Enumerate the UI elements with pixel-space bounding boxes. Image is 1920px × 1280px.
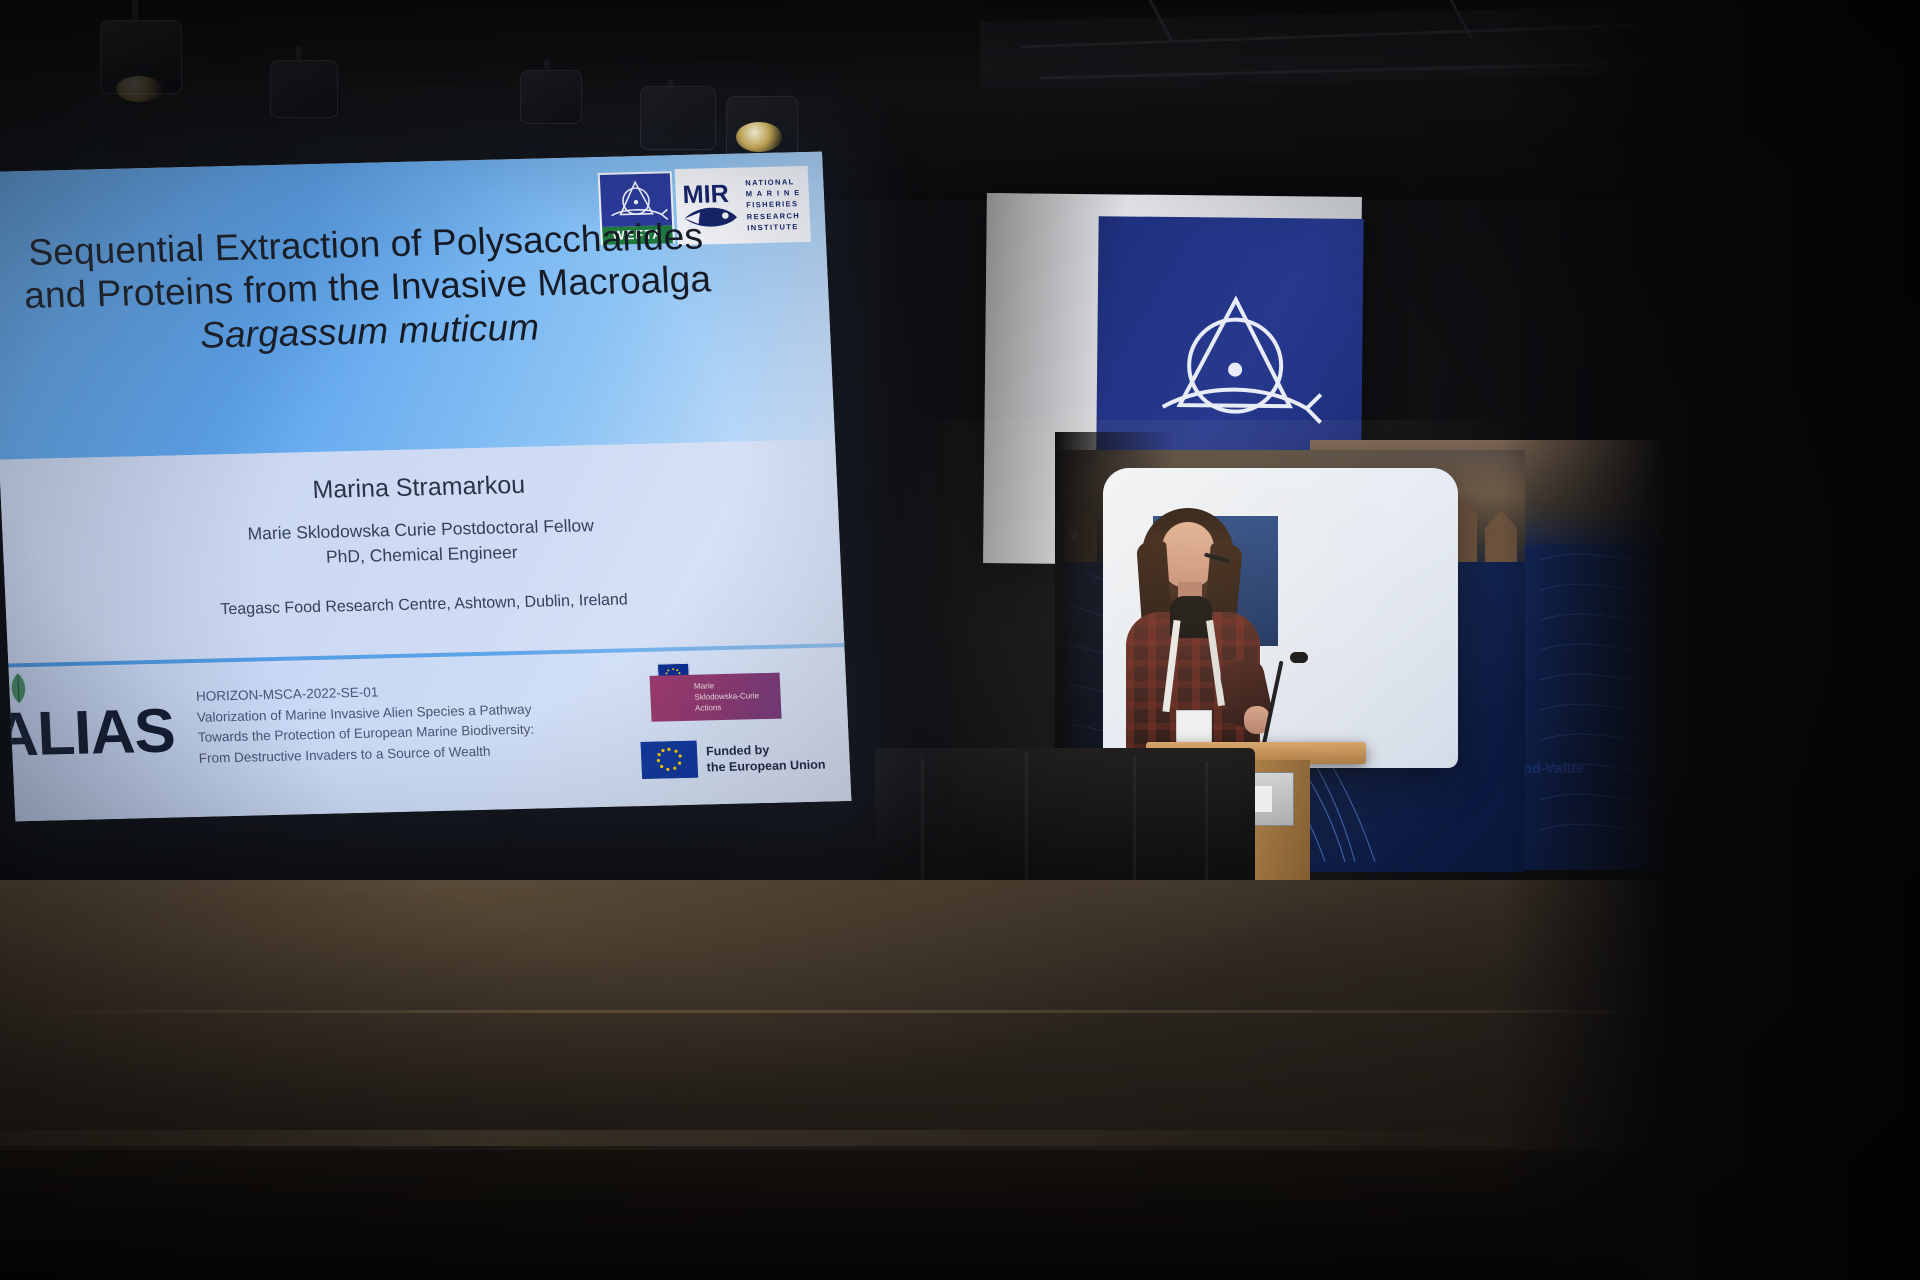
svg-text:MIR: MIR	[682, 180, 729, 209]
eu-flag-icon	[641, 741, 699, 779]
msca-line-3: Actions	[695, 701, 775, 714]
microphone-head-icon	[1290, 652, 1308, 663]
eu-funding-logo: Funded by the European Union	[641, 738, 826, 779]
floor-light-sheen	[0, 880, 1300, 1120]
eu-funding-label: Funded by the European Union	[706, 740, 826, 775]
project-footer-text: HORIZON-MSCA-2022-SE-01 Valorization of …	[196, 677, 600, 769]
msca-logo: Marie Sklodowska-Curie Actions	[650, 673, 782, 722]
leaf-icon	[7, 673, 30, 704]
mir-wordmark-text: NATIONALM A R I N EFISHERIESRESEARCHINST…	[745, 176, 802, 234]
eu-flag-stars-icon	[641, 741, 699, 779]
eu-funding-line-2: the European Union	[706, 756, 825, 775]
alias-project-logo: ALIAS	[0, 695, 176, 770]
alias-wordmark: ALIAS	[0, 696, 176, 769]
projection-screen: WEFTA MIR NATIONALM A R I N EFISHERIESRE…	[0, 152, 851, 822]
conference-stage-photo: NATIONALMARINEFISHERIESRESEARCHINSTITUTE…	[0, 0, 1920, 1280]
speaker-person	[1120, 500, 1270, 760]
presentation-slide: WEFTA MIR NATIONALM A R I N EFISHERIESRE…	[0, 152, 851, 822]
right-side-darkness	[1500, 0, 1920, 1280]
slide-title: Sequential Extraction of Polysaccharides…	[15, 214, 721, 361]
